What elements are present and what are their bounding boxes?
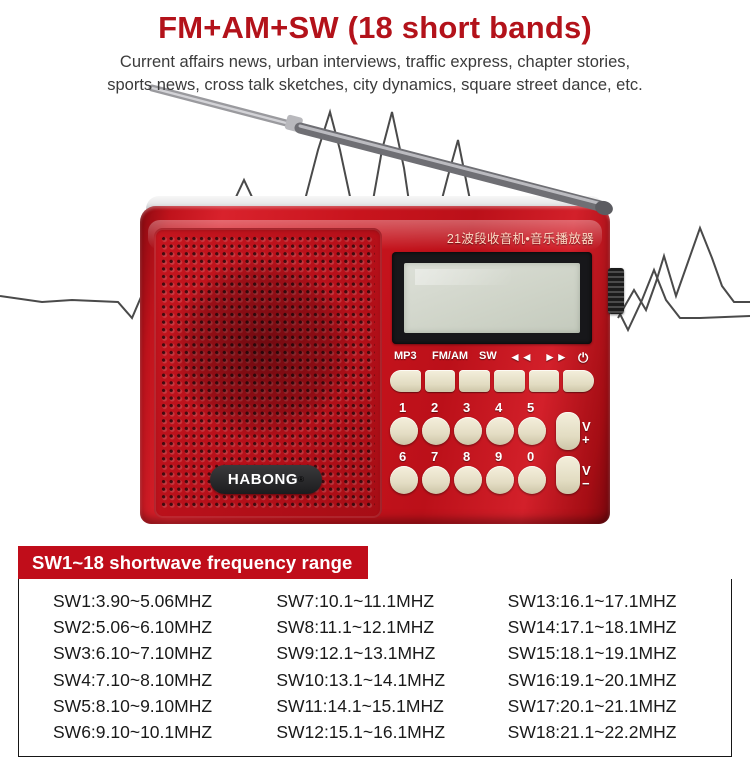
power-button[interactable] [563, 370, 594, 392]
numkey-2[interactable] [422, 417, 450, 445]
numkey-label-5: 5 [527, 400, 534, 415]
volume-up-label: V + [582, 420, 596, 446]
sw-button[interactable] [459, 370, 490, 392]
frequency-column-3: SW13:16.1~17.1MHZ SW14:17.1~18.1MHZ SW15… [494, 588, 731, 745]
numkey-label-6: 6 [399, 449, 406, 464]
list-item: SW4:7.10~8.10MHZ [53, 667, 256, 693]
list-item: SW15:18.1~19.1MHZ [508, 640, 731, 666]
label-power: ⏻ [578, 350, 588, 366]
numkey-label-3: 3 [463, 400, 470, 415]
label-sw: SW [479, 350, 497, 362]
volume-down-button[interactable] [556, 456, 580, 494]
control-panel: 21波段收音机•音乐播放器 MP3 FM/AM SW ◄◄ ►► ⏻ [388, 224, 596, 520]
frequency-column-2: SW7:10.1~11.1MHZ SW8:11.1~12.1MHZ SW9:12… [256, 588, 493, 745]
numkey-label-7: 7 [431, 449, 438, 464]
speaker-panel: HABONG® [154, 228, 382, 518]
list-item: SW12:15.1~16.1MHZ [276, 719, 493, 745]
numkey-label-1: 1 [399, 400, 406, 415]
numkey-5[interactable] [518, 417, 546, 445]
tuning-knob[interactable] [608, 268, 624, 314]
list-item: SW9:12.1~13.1MHZ [276, 640, 493, 666]
frequency-table-block: SW1~18 shortwave frequency range SW1:3.9… [18, 546, 732, 757]
number-keypad: 1 2 3 4 5 6 7 8 9 0 [390, 400, 550, 512]
lcd-bezel [392, 252, 592, 344]
subtitle-line-2: sports news, cross talk sketches, city d… [0, 74, 750, 97]
brand-registered-mark: ® [298, 475, 304, 484]
numkey-label-4: 4 [495, 400, 502, 415]
fm-am-button[interactable] [425, 370, 456, 392]
subtitle-line-1: Current affairs news, urban interviews, … [0, 51, 750, 74]
list-item: SW7:10.1~11.1MHZ [276, 588, 493, 614]
list-item: SW1:3.90~5.06MHZ [53, 588, 256, 614]
list-item: SW17:20.1~21.1MHZ [508, 693, 731, 719]
function-key-labels: MP3 FM/AM SW ◄◄ ►► ⏻ [390, 350, 594, 368]
mp3-button[interactable] [390, 370, 421, 392]
label-mp3: MP3 [394, 350, 417, 362]
page-title: FM+AM+SW (18 short bands) [0, 8, 750, 48]
list-item: SW2:5.06~6.10MHZ [53, 614, 256, 640]
label-previous: ◄◄ [509, 350, 533, 364]
frequency-table-header: SW1~18 shortwave frequency range [18, 546, 368, 579]
numkey-0[interactable] [518, 466, 546, 494]
brand-name: HABONG [228, 471, 298, 488]
brand-logo-badge: HABONG® [210, 465, 322, 494]
numkey-label-0: 0 [527, 449, 534, 464]
previous-button[interactable] [494, 370, 525, 392]
label-fm-am: FM/AM [432, 350, 468, 362]
list-item: SW11:14.1~15.1MHZ [276, 693, 493, 719]
numkey-8[interactable] [454, 466, 482, 494]
numkey-4[interactable] [486, 417, 514, 445]
volume-up-button[interactable] [556, 412, 580, 450]
numkey-6[interactable] [390, 466, 418, 494]
list-item: SW8:11.1~12.1MHZ [276, 614, 493, 640]
numkey-1[interactable] [390, 417, 418, 445]
frequency-table: SW1:3.90~5.06MHZ SW2:5.06~6.10MHZ SW3:6.… [18, 579, 732, 757]
frequency-column-1: SW1:3.90~5.06MHZ SW2:5.06~6.10MHZ SW3:6.… [19, 588, 256, 745]
radio-device: HABONG® 21波段收音机•音乐播放器 MP3 FM/AM SW ◄◄ ►►… [140, 196, 612, 526]
page-subtitle: Current affairs news, urban interviews, … [0, 51, 750, 97]
chinese-model-label: 21波段收音机•音乐播放器 [390, 228, 594, 247]
next-button[interactable] [529, 370, 560, 392]
list-item: SW5:8.10~9.10MHZ [53, 693, 256, 719]
numkey-7[interactable] [422, 466, 450, 494]
list-item: SW18:21.1~22.2MHZ [508, 719, 731, 745]
label-next: ►► [544, 350, 568, 364]
device-body: HABONG® 21波段收音机•音乐播放器 MP3 FM/AM SW ◄◄ ►►… [140, 206, 610, 524]
numkey-label-2: 2 [431, 400, 438, 415]
numkey-9[interactable] [486, 466, 514, 494]
numkey-label-9: 9 [495, 449, 502, 464]
frequency-table-header-label: SW1~18 shortwave frequency range [18, 552, 352, 574]
list-item: SW6:9.10~10.1MHZ [53, 719, 256, 745]
list-item: SW16:19.1~20.1MHZ [508, 667, 731, 693]
volume-controls: V + V − [556, 412, 596, 508]
list-item: SW3:6.10~7.10MHZ [53, 640, 256, 666]
volume-down-label: V − [582, 464, 596, 490]
header-block: FM+AM+SW (18 short bands) Current affair… [0, 0, 750, 97]
lcd-screen [404, 263, 580, 333]
numkey-3[interactable] [454, 417, 482, 445]
function-key-row [390, 370, 594, 392]
list-item: SW14:17.1~18.1MHZ [508, 614, 731, 640]
list-item: SW13:16.1~17.1MHZ [508, 588, 731, 614]
numkey-label-8: 8 [463, 449, 470, 464]
list-item: SW10:13.1~14.1MHZ [276, 667, 493, 693]
